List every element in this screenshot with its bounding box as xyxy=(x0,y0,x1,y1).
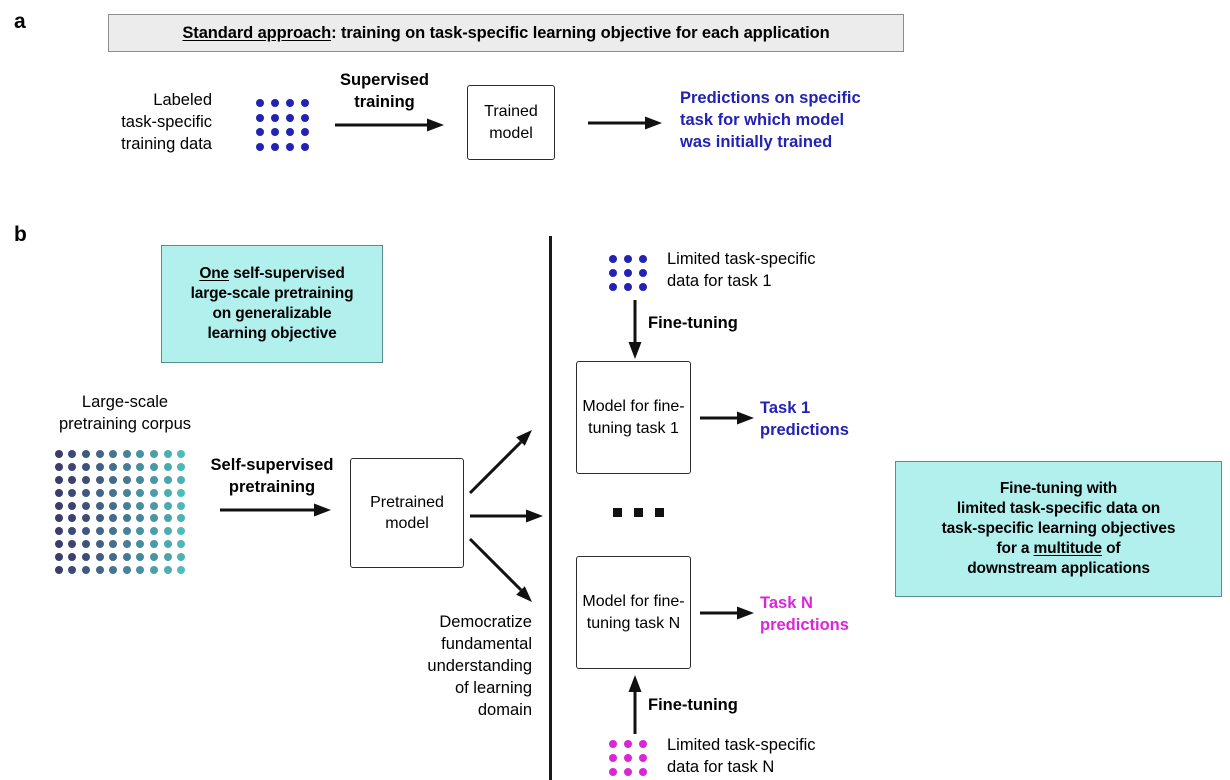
data-dot xyxy=(136,476,144,484)
data-dot xyxy=(136,540,144,548)
taskN-finetune-arrow xyxy=(628,675,642,735)
panel-b-fanout-arrows xyxy=(468,420,546,610)
data-dot xyxy=(624,283,632,291)
pretraining-callout-line4: learning objective xyxy=(191,324,354,344)
data-dot xyxy=(96,463,104,471)
data-dot xyxy=(82,502,90,510)
data-dot xyxy=(68,527,76,535)
task1-predictions-label: Task 1 predictions xyxy=(760,398,940,442)
panel-b-letter: b xyxy=(14,224,27,245)
task1-dot-grid xyxy=(606,252,650,294)
data-dot xyxy=(164,566,172,574)
panel-b-vertical-divider xyxy=(549,236,552,780)
data-dot xyxy=(68,489,76,497)
data-dot xyxy=(624,740,632,748)
panel-b-democratize-label: Democratize fundamental understanding of… xyxy=(380,612,532,722)
data-dot xyxy=(136,489,144,497)
panel-a-arrow-label: Supervised training xyxy=(322,70,447,114)
data-dot xyxy=(96,527,104,535)
data-dot xyxy=(136,553,144,561)
ellipsis-square xyxy=(655,508,664,517)
data-dot xyxy=(150,514,158,522)
data-dot xyxy=(177,450,185,458)
data-dot xyxy=(109,514,117,522)
finetuning-callout-line4-post: of xyxy=(1102,540,1121,557)
finetuning-callout-line1: Fine-tuning with xyxy=(942,479,1176,499)
data-dot xyxy=(82,566,90,574)
panel-a-banner-text: Standard approach: training on task-spec… xyxy=(182,24,829,43)
data-dot xyxy=(624,255,632,263)
data-dot xyxy=(136,566,144,574)
data-dot xyxy=(109,489,117,497)
panel-b-corpus-dot-grid xyxy=(52,448,188,576)
data-dot xyxy=(96,553,104,561)
data-dot xyxy=(68,514,76,522)
data-dot xyxy=(136,527,144,535)
data-dot xyxy=(286,128,294,136)
data-dot xyxy=(109,527,117,535)
data-dot xyxy=(164,502,172,510)
pretraining-callout-line1: One self-supervised xyxy=(191,264,354,284)
data-dot xyxy=(109,502,117,510)
data-dot xyxy=(639,740,647,748)
data-dot xyxy=(68,540,76,548)
data-dot xyxy=(150,489,158,497)
data-dot xyxy=(68,553,76,561)
data-dot xyxy=(136,463,144,471)
data-dot xyxy=(639,269,647,277)
panel-a-trained-model-box: Trained model xyxy=(467,85,555,160)
finetuning-callout-text: Fine-tuning with limited task-specific d… xyxy=(942,479,1176,580)
data-dot xyxy=(96,476,104,484)
data-dot xyxy=(96,450,104,458)
taskN-dot-grid xyxy=(606,737,650,779)
data-dot xyxy=(609,269,617,277)
data-dot xyxy=(150,527,158,535)
data-dot xyxy=(96,489,104,497)
data-dot xyxy=(271,143,279,151)
data-dot xyxy=(55,489,63,497)
task1-data-label: Limited task-specific data for task 1 xyxy=(667,249,867,293)
data-dot xyxy=(150,476,158,484)
data-dot xyxy=(271,114,279,122)
data-dot xyxy=(286,143,294,151)
data-dot xyxy=(164,540,172,548)
pretraining-callout-one: One xyxy=(199,265,229,282)
data-dot xyxy=(164,476,172,484)
data-dot xyxy=(123,476,131,484)
task1-finetune-arrow xyxy=(628,300,642,360)
data-dot xyxy=(177,514,185,522)
data-dot xyxy=(82,514,90,522)
panel-a-output-label: Predictions on specific task for which m… xyxy=(680,88,910,154)
finetuning-callout-multitude: multitude xyxy=(1034,540,1102,557)
data-dot xyxy=(55,502,63,510)
data-dot xyxy=(639,283,647,291)
data-dot xyxy=(164,553,172,561)
data-dot xyxy=(150,540,158,548)
data-dot xyxy=(55,514,63,522)
pretraining-callout-line3: on generalizable xyxy=(191,304,354,324)
data-dot xyxy=(96,566,104,574)
data-dot xyxy=(55,566,63,574)
data-dot xyxy=(123,489,131,497)
panel-b-pretrained-model-box: Pretrained model xyxy=(350,458,464,568)
data-dot xyxy=(55,540,63,548)
data-dot xyxy=(82,463,90,471)
data-dot xyxy=(624,269,632,277)
data-dot xyxy=(150,502,158,510)
data-dot xyxy=(301,128,309,136)
data-dot xyxy=(55,450,63,458)
pretraining-callout-line1-rest: self-supervised xyxy=(229,265,345,282)
panel-a-output-arrow xyxy=(588,116,663,130)
data-dot xyxy=(109,476,117,484)
data-dot xyxy=(109,450,117,458)
data-dot xyxy=(55,553,63,561)
panel-b-pretrain-arrow-label: Self-supervised pretraining xyxy=(192,455,352,499)
data-dot xyxy=(123,540,131,548)
taskN-model-box: Model for fine-tuning task N xyxy=(576,556,691,669)
taskN-predictions-arrow xyxy=(700,606,755,620)
data-dot xyxy=(109,540,117,548)
data-dot xyxy=(624,768,632,776)
data-dot xyxy=(109,553,117,561)
finetuning-callout-line4-pre: for a xyxy=(997,540,1034,557)
panel-b-pretrain-arrow xyxy=(220,503,332,517)
data-dot xyxy=(639,754,647,762)
data-dot xyxy=(109,566,117,574)
data-dot xyxy=(164,527,172,535)
data-dot xyxy=(82,489,90,497)
data-dot xyxy=(123,502,131,510)
panel-b-finetuning-callout: Fine-tuning with limited task-specific d… xyxy=(895,461,1222,597)
pretraining-callout-line2: large-scale pretraining xyxy=(191,284,354,304)
data-dot xyxy=(286,114,294,122)
data-dot xyxy=(256,128,264,136)
finetuning-callout-line3: task-specific learning objectives xyxy=(942,519,1176,539)
data-dot xyxy=(82,476,90,484)
data-dot xyxy=(55,527,63,535)
data-dot xyxy=(164,463,172,471)
data-dot xyxy=(256,114,264,122)
data-dot xyxy=(123,553,131,561)
taskN-data-label: Limited task-specific data for task N xyxy=(667,735,867,779)
data-dot xyxy=(96,514,104,522)
data-dot xyxy=(609,740,617,748)
data-dot xyxy=(609,283,617,291)
data-dot xyxy=(82,527,90,535)
data-dot xyxy=(177,476,185,484)
panel-b-ellipsis xyxy=(613,508,664,517)
data-dot xyxy=(68,463,76,471)
finetuning-callout-line4: for a multitude of xyxy=(942,539,1176,559)
data-dot xyxy=(109,463,117,471)
data-dot xyxy=(609,754,617,762)
taskN-finetune-label: Fine-tuning xyxy=(648,695,808,717)
data-dot xyxy=(256,143,264,151)
ellipsis-square xyxy=(634,508,643,517)
panel-b-pretraining-callout: One self-supervised large-scale pretrain… xyxy=(161,245,383,363)
data-dot xyxy=(164,450,172,458)
data-dot xyxy=(96,540,104,548)
data-dot xyxy=(639,768,647,776)
data-dot xyxy=(177,527,185,535)
ellipsis-square xyxy=(613,508,622,517)
panel-a-dot-grid xyxy=(252,96,312,154)
data-dot xyxy=(150,450,158,458)
data-dot xyxy=(177,463,185,471)
data-dot xyxy=(177,540,185,548)
data-dot xyxy=(150,566,158,574)
data-dot xyxy=(123,450,131,458)
panel-a-data-label: Labeled task-specific training data xyxy=(100,90,212,156)
data-dot xyxy=(639,255,647,263)
data-dot xyxy=(177,489,185,497)
data-dot xyxy=(271,99,279,107)
panel-a-banner-rest: : training on task-specific learning obj… xyxy=(331,24,830,42)
data-dot xyxy=(164,489,172,497)
data-dot xyxy=(96,502,104,510)
panel-a-banner: Standard approach: training on task-spec… xyxy=(108,14,904,52)
task1-model-box: Model for fine-tuning task 1 xyxy=(576,361,691,474)
data-dot xyxy=(177,553,185,561)
data-dot xyxy=(256,99,264,107)
task1-finetune-label: Fine-tuning xyxy=(648,313,808,335)
data-dot xyxy=(301,143,309,151)
finetuning-callout-line2: limited task-specific data on xyxy=(942,499,1176,519)
data-dot xyxy=(177,566,185,574)
data-dot xyxy=(136,502,144,510)
data-dot xyxy=(123,514,131,522)
panel-a-letter: a xyxy=(14,11,26,32)
panel-a-supervised-arrow xyxy=(335,118,445,132)
data-dot xyxy=(624,754,632,762)
data-dot xyxy=(609,255,617,263)
finetuning-callout-line5: downstream applications xyxy=(942,559,1176,579)
data-dot xyxy=(177,502,185,510)
data-dot xyxy=(123,527,131,535)
data-dot xyxy=(136,450,144,458)
data-dot xyxy=(68,450,76,458)
data-dot xyxy=(609,768,617,776)
data-dot xyxy=(271,128,279,136)
data-dot xyxy=(164,514,172,522)
data-dot xyxy=(301,99,309,107)
data-dot xyxy=(82,553,90,561)
data-dot xyxy=(68,476,76,484)
data-dot xyxy=(301,114,309,122)
taskN-predictions-label: Task N predictions xyxy=(760,593,940,637)
panel-b-corpus-label: Large-scale pretraining corpus xyxy=(45,392,205,436)
data-dot xyxy=(68,566,76,574)
data-dot xyxy=(136,514,144,522)
data-dot xyxy=(286,99,294,107)
pretraining-callout-text: One self-supervised large-scale pretrain… xyxy=(191,264,354,345)
data-dot xyxy=(82,540,90,548)
data-dot xyxy=(82,450,90,458)
task1-predictions-arrow xyxy=(700,411,755,425)
data-dot xyxy=(123,566,131,574)
data-dot xyxy=(150,463,158,471)
panel-a-banner-underlined: Standard approach xyxy=(182,24,331,42)
data-dot xyxy=(55,476,63,484)
data-dot xyxy=(150,553,158,561)
data-dot xyxy=(68,502,76,510)
data-dot xyxy=(123,463,131,471)
data-dot xyxy=(55,463,63,471)
